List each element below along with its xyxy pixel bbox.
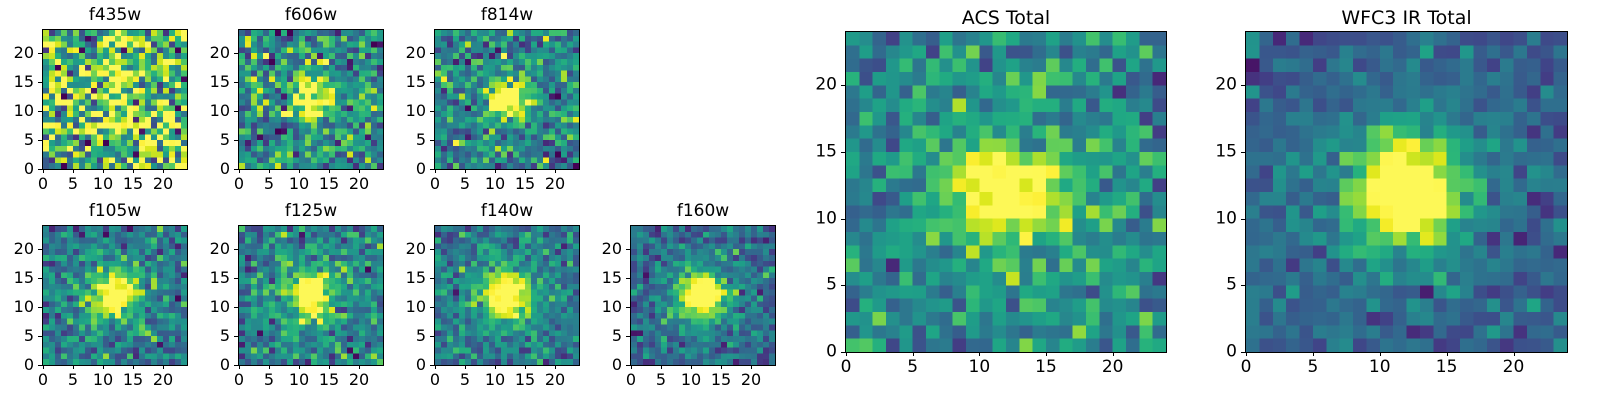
heatmap-axes (42, 225, 188, 366)
y-tick (430, 365, 434, 366)
x-tick-label: 10 (681, 372, 701, 388)
y-tick-label: 0 (0, 161, 34, 177)
y-tick-label: 20 (570, 241, 622, 257)
x-tick (555, 169, 556, 173)
x-tick (239, 365, 240, 369)
y-tick (430, 169, 434, 170)
x-tick-label: 20 (349, 176, 369, 192)
panel-title: f105w (42, 203, 188, 220)
y-tick (38, 365, 42, 366)
x-tick (269, 169, 270, 173)
x-tick-label: 0 (841, 359, 852, 376)
y-tick-label: 15 (0, 270, 34, 286)
x-tick-label: 5 (1307, 359, 1318, 376)
x-tick (495, 365, 496, 369)
x-tick (465, 365, 466, 369)
panel-f606w: f606w0510152005101520 (178, 1, 384, 200)
x-tick (163, 169, 164, 173)
y-tick-label: 15 (0, 74, 34, 90)
y-tick-label: 15 (178, 270, 230, 286)
x-tick-label: 0 (626, 372, 636, 388)
x-tick-label: 0 (430, 372, 440, 388)
x-tick (1380, 352, 1381, 356)
y-tick (38, 53, 42, 54)
x-tick (846, 352, 847, 356)
y-tick (38, 111, 42, 112)
x-tick-label: 5 (68, 372, 78, 388)
panel-title: f160w (630, 203, 776, 220)
y-tick-label: 20 (374, 241, 426, 257)
heatmap-image (1246, 32, 1567, 352)
y-tick (234, 111, 238, 112)
x-tick (299, 169, 300, 173)
y-tick-label: 10 (570, 299, 622, 315)
y-tick-label: 20 (374, 45, 426, 61)
x-tick (133, 169, 134, 173)
x-tick (1514, 352, 1515, 356)
y-tick-label: 0 (785, 344, 837, 361)
y-tick (234, 336, 238, 337)
x-tick (1447, 352, 1448, 356)
y-tick (841, 85, 845, 86)
y-tick (38, 336, 42, 337)
y-tick-label: 0 (570, 357, 622, 373)
panel-title: WFC3 IR Total (1245, 9, 1568, 28)
y-tick (1241, 152, 1245, 153)
y-tick (38, 82, 42, 83)
y-tick-label: 0 (374, 357, 426, 373)
x-tick (43, 169, 44, 173)
y-tick (234, 169, 238, 170)
x-tick (721, 365, 722, 369)
x-tick-label: 15 (123, 372, 143, 388)
y-tick-label: 5 (374, 132, 426, 148)
y-tick (234, 278, 238, 279)
panel-title: f125w (238, 203, 384, 220)
x-tick-label: 20 (1503, 359, 1525, 376)
y-tick-label: 20 (178, 241, 230, 257)
x-tick-label: 10 (1369, 359, 1391, 376)
y-tick-label: 5 (374, 328, 426, 344)
y-tick-label: 20 (785, 77, 837, 94)
y-tick-label: 5 (0, 132, 34, 148)
y-tick (430, 140, 434, 141)
x-tick-label: 10 (93, 176, 113, 192)
heatmap-image (435, 226, 579, 365)
x-tick-label: 10 (289, 176, 309, 192)
y-tick (234, 249, 238, 250)
x-tick (73, 169, 74, 173)
y-tick-label: 10 (785, 210, 837, 227)
x-tick-label: 15 (1035, 359, 1057, 376)
y-tick-label: 0 (0, 357, 34, 373)
y-tick (234, 365, 238, 366)
y-tick-label: 15 (178, 74, 230, 90)
y-tick (841, 352, 845, 353)
x-tick-label: 10 (289, 372, 309, 388)
panel-title: f140w (434, 203, 580, 220)
y-tick-label: 10 (374, 299, 426, 315)
heatmap-axes (238, 225, 384, 366)
y-tick (1241, 219, 1245, 220)
panel-title: f814w (434, 7, 580, 24)
y-tick (38, 278, 42, 279)
panel-f435w: f435w0510152005101520 (0, 1, 188, 200)
x-tick-label: 15 (319, 372, 339, 388)
y-tick-label: 20 (0, 45, 34, 61)
y-tick-label: 20 (178, 45, 230, 61)
x-tick (525, 169, 526, 173)
x-tick (103, 365, 104, 369)
panel-f125w: f125w0510152005101520 (178, 197, 384, 396)
x-tick-label: 5 (264, 372, 274, 388)
y-tick-label: 5 (785, 277, 837, 294)
x-tick (103, 169, 104, 173)
y-tick-label: 15 (374, 270, 426, 286)
x-tick-label: 5 (460, 176, 470, 192)
figure-canvas: f435w0510152005101520f606w05101520051015… (0, 0, 1600, 400)
x-tick (163, 365, 164, 369)
x-tick-label: 20 (545, 176, 565, 192)
heatmap-image (43, 226, 187, 365)
x-tick (329, 365, 330, 369)
y-tick (430, 111, 434, 112)
y-tick (430, 53, 434, 54)
x-tick (661, 365, 662, 369)
x-tick (1113, 352, 1114, 356)
x-tick-label: 0 (38, 176, 48, 192)
y-tick-label: 5 (570, 328, 622, 344)
x-tick-label: 0 (1241, 359, 1252, 376)
panel-f105w: f105w0510152005101520 (0, 197, 188, 396)
panel-f814w: f814w0510152005101520 (374, 1, 580, 200)
heatmap-axes (42, 29, 188, 170)
y-tick-label: 20 (0, 241, 34, 257)
x-tick-label: 0 (430, 176, 440, 192)
y-tick-label: 15 (374, 74, 426, 90)
y-tick (234, 82, 238, 83)
y-tick-label: 15 (785, 144, 837, 161)
x-tick (555, 365, 556, 369)
y-tick-label: 0 (1185, 344, 1237, 361)
x-tick (1313, 352, 1314, 356)
x-tick-label: 15 (319, 176, 339, 192)
heatmap-image (239, 30, 383, 169)
x-tick (495, 169, 496, 173)
y-tick-label: 10 (0, 299, 34, 315)
x-tick-label: 10 (485, 176, 505, 192)
y-tick (841, 219, 845, 220)
x-tick (359, 169, 360, 173)
y-tick (626, 278, 630, 279)
heatmap-axes (434, 29, 580, 170)
x-tick (329, 169, 330, 173)
y-tick (234, 307, 238, 308)
y-tick (626, 249, 630, 250)
y-tick (430, 307, 434, 308)
panel-title: f606w (238, 7, 384, 24)
y-tick (841, 152, 845, 153)
heatmap-axes (434, 225, 580, 366)
x-tick-label: 5 (68, 176, 78, 192)
x-tick-label: 15 (711, 372, 731, 388)
heatmap-image (239, 226, 383, 365)
x-tick (1246, 352, 1247, 356)
y-tick-label: 5 (1185, 277, 1237, 294)
y-tick (626, 365, 630, 366)
x-tick (1046, 352, 1047, 356)
y-tick (1241, 85, 1245, 86)
panel-f140w: f140w0510152005101520 (374, 197, 580, 396)
heatmap-image (631, 226, 775, 365)
y-tick-label: 15 (570, 270, 622, 286)
y-tick-label: 10 (374, 103, 426, 119)
y-tick-label: 0 (178, 357, 230, 373)
heatmap-image (43, 30, 187, 169)
x-tick (525, 365, 526, 369)
heatmap-axes (845, 31, 1167, 353)
y-tick-label: 15 (1185, 144, 1237, 161)
y-tick-label: 0 (178, 161, 230, 177)
x-tick-label: 10 (485, 372, 505, 388)
x-tick (73, 365, 74, 369)
y-tick (234, 53, 238, 54)
x-tick (359, 365, 360, 369)
x-tick-label: 5 (907, 359, 918, 376)
y-tick (1241, 352, 1245, 353)
y-tick (841, 285, 845, 286)
x-tick-label: 20 (741, 372, 761, 388)
x-tick-label: 5 (656, 372, 666, 388)
y-tick (38, 307, 42, 308)
heatmap-axes (1245, 31, 1568, 353)
y-tick (1241, 285, 1245, 286)
x-tick-label: 15 (515, 176, 535, 192)
panel-acs-total: ACS Total0510152005101520 (785, 3, 1167, 383)
panel-title: f435w (42, 7, 188, 24)
x-tick (435, 169, 436, 173)
x-tick-label: 0 (38, 372, 48, 388)
heatmap-axes (630, 225, 776, 366)
y-tick (430, 82, 434, 83)
heatmap-image (435, 30, 579, 169)
y-tick-label: 10 (178, 299, 230, 315)
y-tick (626, 307, 630, 308)
y-tick (430, 278, 434, 279)
y-tick (38, 249, 42, 250)
y-tick-label: 5 (178, 328, 230, 344)
x-tick-label: 15 (123, 176, 143, 192)
y-tick (234, 140, 238, 141)
x-tick-label: 10 (969, 359, 991, 376)
y-tick-label: 10 (0, 103, 34, 119)
x-tick-label: 5 (264, 176, 274, 192)
x-tick-label: 0 (234, 372, 244, 388)
y-tick (38, 140, 42, 141)
x-tick (979, 352, 980, 356)
panel-wfc3-ir-total: WFC3 IR Total0510152005101520 (1185, 3, 1568, 383)
x-tick-label: 20 (349, 372, 369, 388)
y-tick (38, 169, 42, 170)
x-tick-label: 5 (460, 372, 470, 388)
x-tick-label: 20 (153, 176, 173, 192)
y-tick-label: 10 (178, 103, 230, 119)
panel-title: ACS Total (845, 9, 1167, 28)
panel-f160w: f160w0510152005101520 (570, 197, 776, 396)
x-tick (751, 365, 752, 369)
x-tick-label: 20 (1102, 359, 1124, 376)
x-tick (691, 365, 692, 369)
x-tick (269, 365, 270, 369)
y-tick-label: 20 (1185, 77, 1237, 94)
y-tick-label: 10 (1185, 210, 1237, 227)
heatmap-axes (238, 29, 384, 170)
x-tick (43, 365, 44, 369)
x-tick (239, 169, 240, 173)
y-tick-label: 5 (0, 328, 34, 344)
x-tick (435, 365, 436, 369)
x-tick-label: 0 (234, 176, 244, 192)
x-tick-label: 20 (545, 372, 565, 388)
y-tick (626, 336, 630, 337)
y-tick-label: 5 (178, 132, 230, 148)
x-tick-label: 15 (1436, 359, 1458, 376)
x-tick (913, 352, 914, 356)
x-tick (631, 365, 632, 369)
x-tick (133, 365, 134, 369)
y-tick-label: 0 (374, 161, 426, 177)
heatmap-image (846, 32, 1166, 352)
x-tick (299, 365, 300, 369)
x-tick-label: 15 (515, 372, 535, 388)
y-tick (430, 249, 434, 250)
x-tick (465, 169, 466, 173)
y-tick (430, 336, 434, 337)
x-tick-label: 20 (153, 372, 173, 388)
x-tick-label: 10 (93, 372, 113, 388)
